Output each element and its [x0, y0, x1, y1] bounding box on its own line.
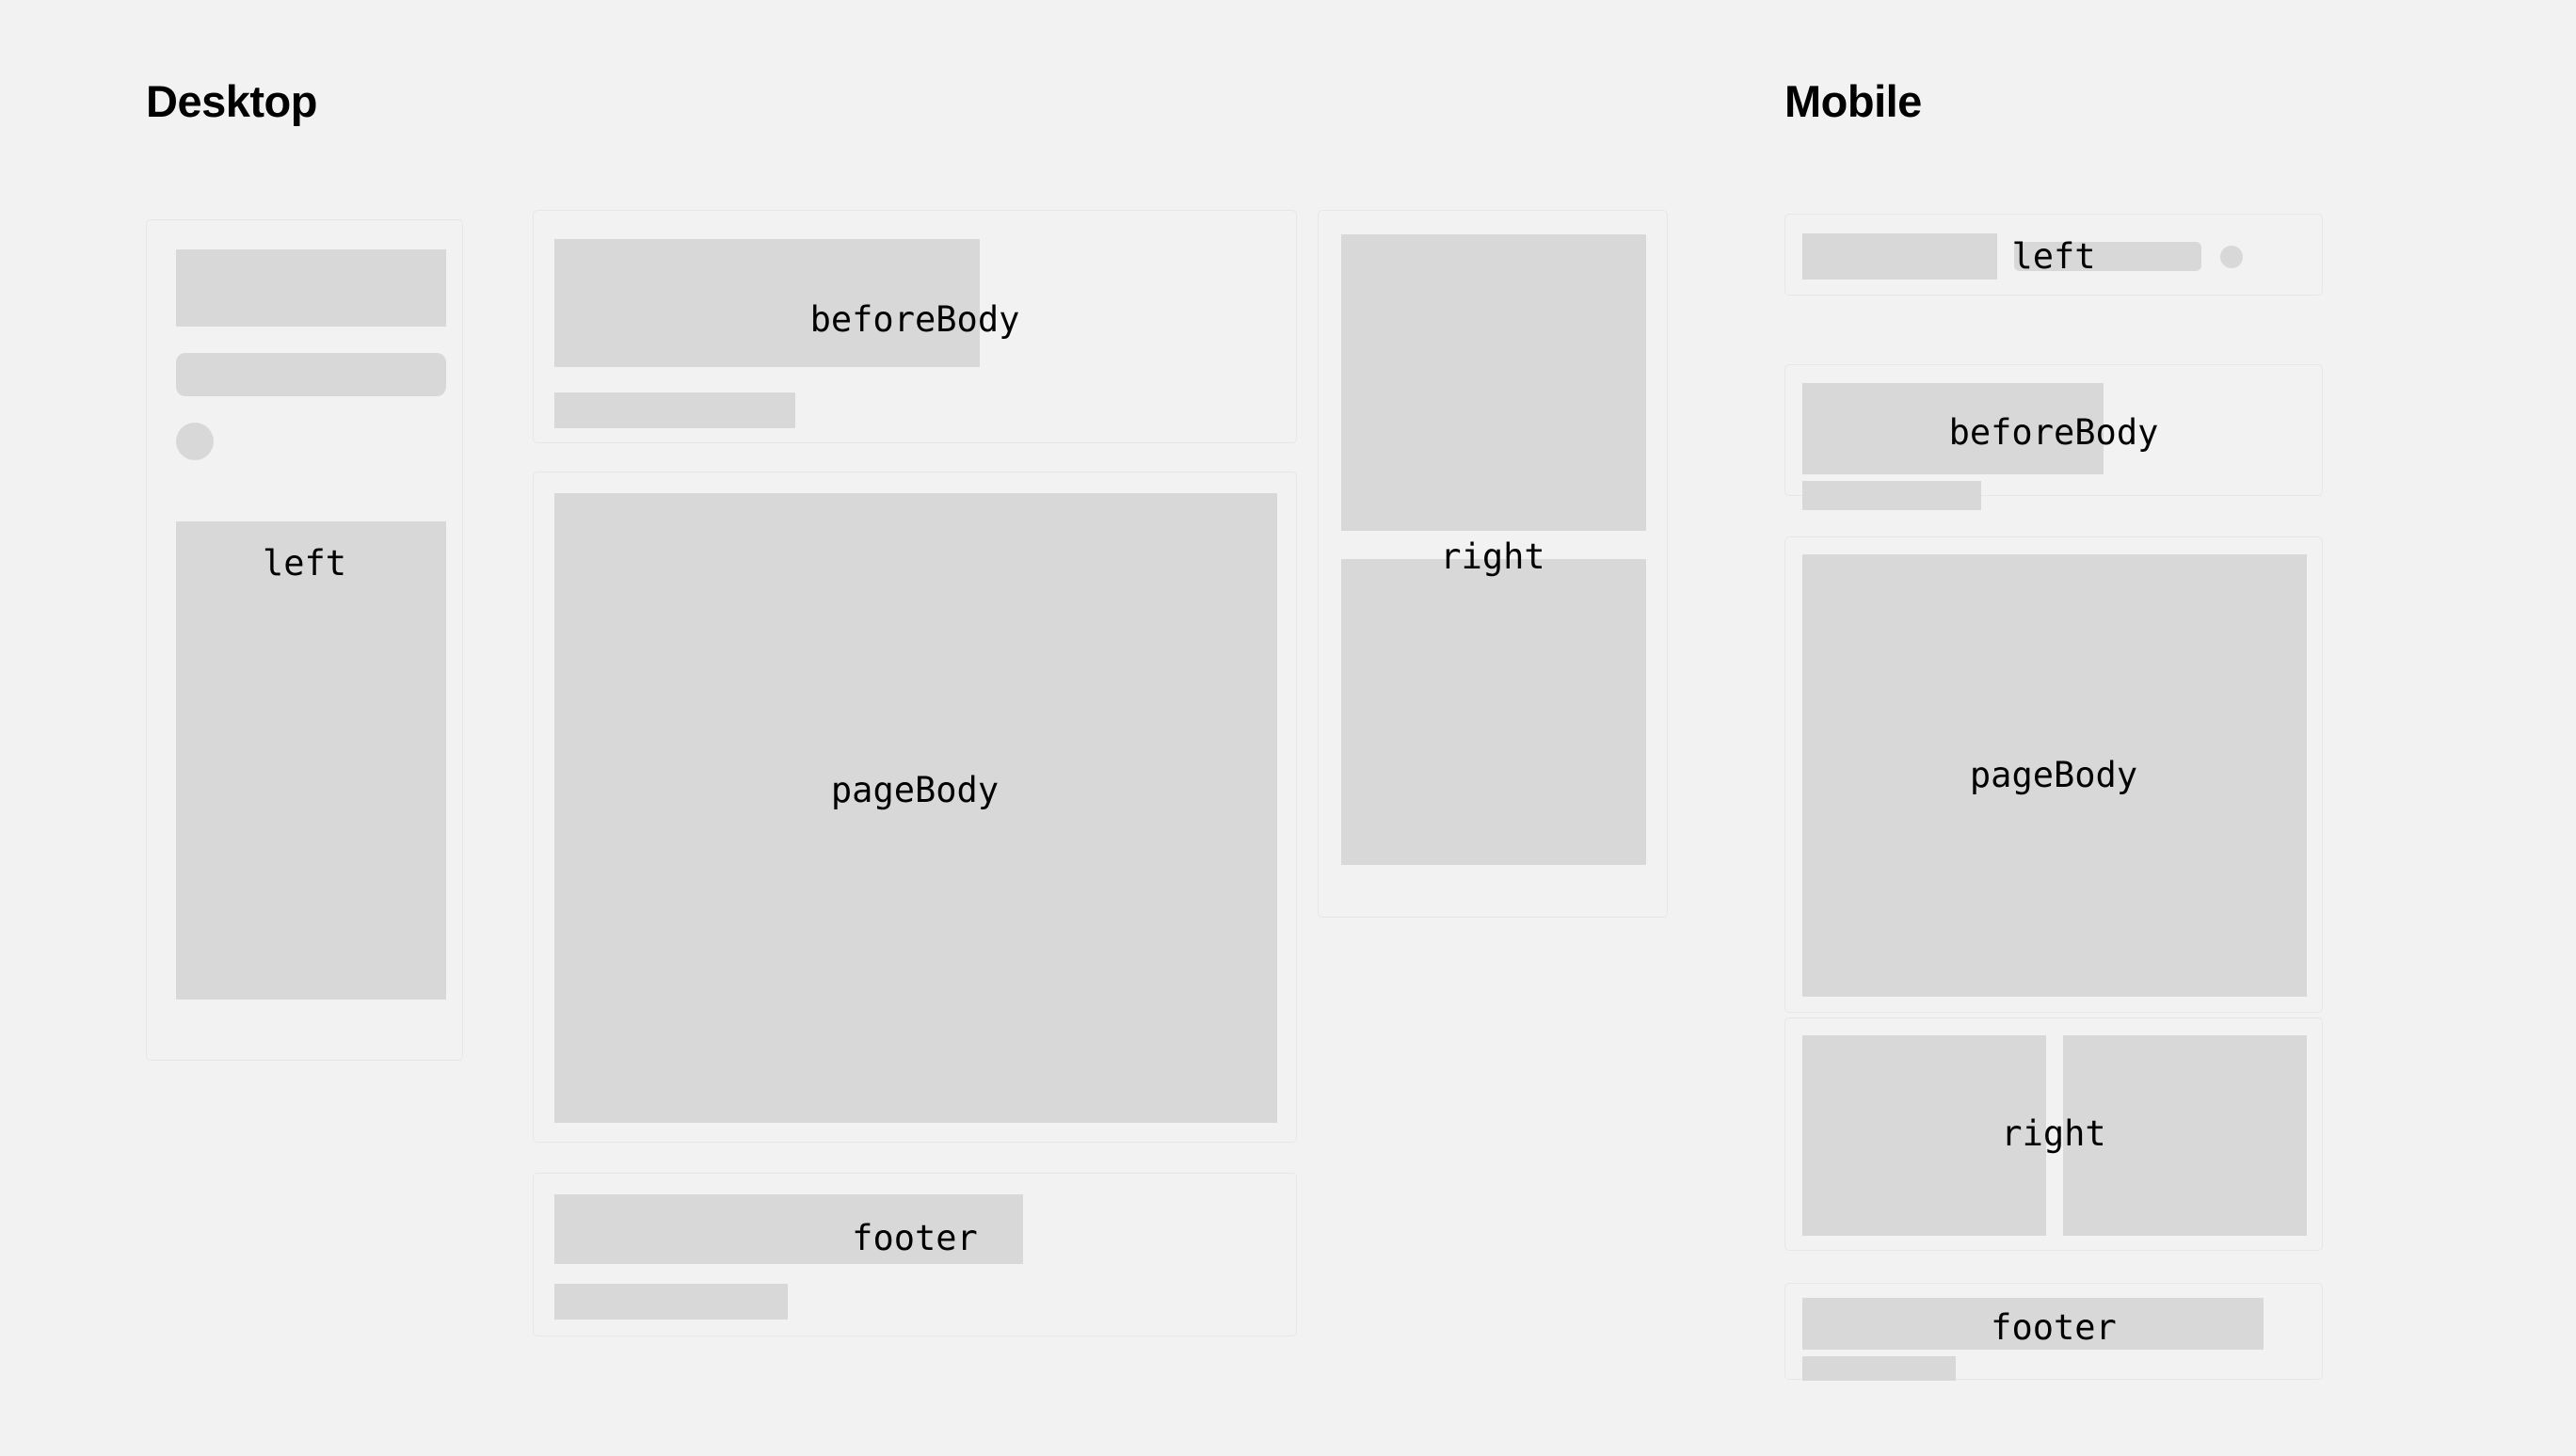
- desktop-page-body-region-panel[interactable]: [533, 472, 1297, 1143]
- skeleton-block: [554, 1194, 1023, 1264]
- desktop-left-region-panel[interactable]: [146, 219, 463, 1061]
- skeleton-circle-avatar: [2220, 246, 2243, 268]
- desktop-section-title: Desktop: [146, 79, 317, 123]
- mobile-before-body-region-panel[interactable]: [1784, 364, 2323, 496]
- mobile-page-body-region-panel[interactable]: [1784, 536, 2323, 1013]
- skeleton-block: [1802, 383, 2104, 474]
- skeleton-block: [1341, 234, 1646, 531]
- skeleton-block-large: [1802, 554, 2307, 997]
- skeleton-block: [1341, 559, 1646, 865]
- skeleton-block: [554, 239, 980, 367]
- mobile-footer-region-panel[interactable]: [1784, 1283, 2323, 1380]
- skeleton-block: [2063, 1035, 2307, 1236]
- skeleton-block-small: [554, 392, 795, 428]
- skeleton-block: [1802, 1298, 2264, 1350]
- skeleton-block: [1802, 1035, 2046, 1236]
- layout-preview-canvas: Desktop left beforeBody pageBody footer …: [0, 0, 2576, 1456]
- mobile-right-region-panel[interactable]: [1784, 1017, 2323, 1251]
- desktop-right-region-panel[interactable]: [1318, 210, 1668, 918]
- skeleton-block-large: [554, 493, 1277, 1123]
- skeleton-circle-avatar: [176, 423, 214, 460]
- desktop-footer-region-panel[interactable]: [533, 1173, 1297, 1336]
- skeleton-block: [176, 249, 446, 327]
- skeleton-block-small: [554, 1284, 788, 1320]
- skeleton-block: [1802, 233, 1997, 280]
- mobile-left-region-panel[interactable]: [1784, 214, 2323, 296]
- skeleton-block-small: [1802, 481, 1981, 510]
- desktop-before-body-region-panel[interactable]: [533, 210, 1297, 443]
- skeleton-block-tall: [176, 521, 446, 1000]
- skeleton-pill: [176, 353, 446, 396]
- skeleton-pill: [2014, 242, 2201, 271]
- mobile-section-title: Mobile: [1784, 79, 1922, 123]
- skeleton-block-small: [1802, 1356, 1956, 1381]
